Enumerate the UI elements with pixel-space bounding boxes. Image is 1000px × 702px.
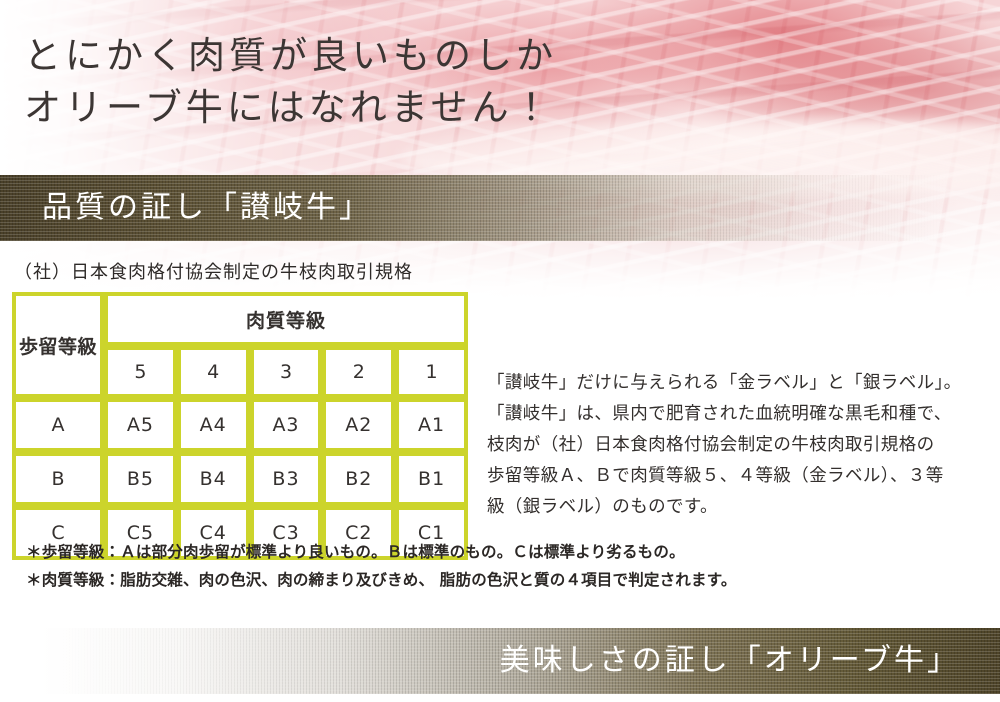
- description-line-4: 歩留等級Ａ、Ｂで肉質等級５、４等級（金ラベル）、３等: [487, 461, 987, 492]
- description-line-3: 枝肉が（社）日本食肉格付協会制定の牛枝肉取引規格の: [487, 430, 987, 461]
- yield-grade-header-cell: 歩留等級: [12, 292, 104, 398]
- grade-cell-b2: B2: [322, 452, 395, 506]
- quality-grade-4: 4: [177, 346, 250, 398]
- footnote-yield-grade: ＊歩留等級：Ａは部分肉歩留が標準より良いもの。Ｂは標準のもの。Ｃは標準より劣るも…: [26, 538, 976, 566]
- grade-cell-a5: A5: [104, 398, 177, 452]
- sanuki-beef-description: 「讃岐牛」だけに与えられる「金ラベル」と「銀ラベル」。 「讃岐牛」は、県内で肥育…: [487, 368, 987, 523]
- description-line-2: 「讃岐牛」は、県内で肥育された血統明確な黒毛和種で、: [487, 399, 987, 430]
- footnote-group: ＊歩留等級：Ａは部分肉歩留が標準より良いもの。Ｂは標準のもの。Ｃは標準より劣るも…: [26, 538, 976, 594]
- quality-grade-1: 1: [395, 346, 468, 398]
- yield-grade-a: A: [12, 398, 104, 452]
- grade-cell-a3: A3: [250, 398, 323, 452]
- quality-grade-header-cell: 肉質等級: [104, 292, 468, 346]
- grade-cell-b4: B4: [177, 452, 250, 506]
- banner-quality-proof: 品質の証し「讃岐牛」: [0, 175, 1000, 241]
- footnote-quality-grade: ＊肉質等級：脂肪交雑、肉の色沢、肉の締まり及びきめ、 脂肪の色沢と質の４項目で判…: [26, 566, 976, 594]
- banner-bottom-label: 美味しさの証し「オリーブ牛」: [500, 628, 960, 694]
- description-line-5: 級（銀ラベル）のものです。: [487, 492, 987, 523]
- description-line-1: 「讃岐牛」だけに与えられる「金ラベル」と「銀ラベル」。: [487, 368, 987, 399]
- grade-cell-a2: A2: [322, 398, 395, 452]
- infographic-page: とにかく肉質が良いものしか オリーブ牛にはなれません！ 品質の証し「讃岐牛」 （…: [0, 0, 1000, 702]
- grade-cell-a1: A1: [395, 398, 468, 452]
- table-row: B B5 B4 B3 B2 B1: [12, 452, 468, 506]
- grade-cell-b3: B3: [250, 452, 323, 506]
- grade-table-container: 歩留等級 肉質等級 5 4 3 2 1 A A5 A4 A3 A2 A1: [12, 292, 468, 560]
- grade-cell-b5: B5: [104, 452, 177, 506]
- banner-taste-proof: 美味しさの証し「オリーブ牛」: [0, 628, 1000, 694]
- hero-heading-line-2: オリーブ牛にはなれません！: [24, 82, 684, 134]
- quality-grade-3: 3: [250, 346, 323, 398]
- banner-top-label: 品質の証し「讃岐牛」: [42, 175, 372, 241]
- beef-grade-table: 歩留等級 肉質等級 5 4 3 2 1 A A5 A4 A3 A2 A1: [12, 292, 468, 560]
- hero-heading-line-1: とにかく肉質が良いものしか: [24, 30, 684, 82]
- yield-grade-b: B: [12, 452, 104, 506]
- grade-table-caption: （社）日本食肉格付協会制定の牛枝肉取引規格: [14, 258, 413, 284]
- table-row-group-headers: 歩留等級 肉質等級: [12, 292, 468, 346]
- grade-cell-a4: A4: [177, 398, 250, 452]
- quality-grade-2: 2: [322, 346, 395, 398]
- grade-cell-b1: B1: [395, 452, 468, 506]
- hero-heading: とにかく肉質が良いものしか オリーブ牛にはなれません！: [24, 30, 684, 134]
- table-row: A A5 A4 A3 A2 A1: [12, 398, 468, 452]
- quality-grade-5: 5: [104, 346, 177, 398]
